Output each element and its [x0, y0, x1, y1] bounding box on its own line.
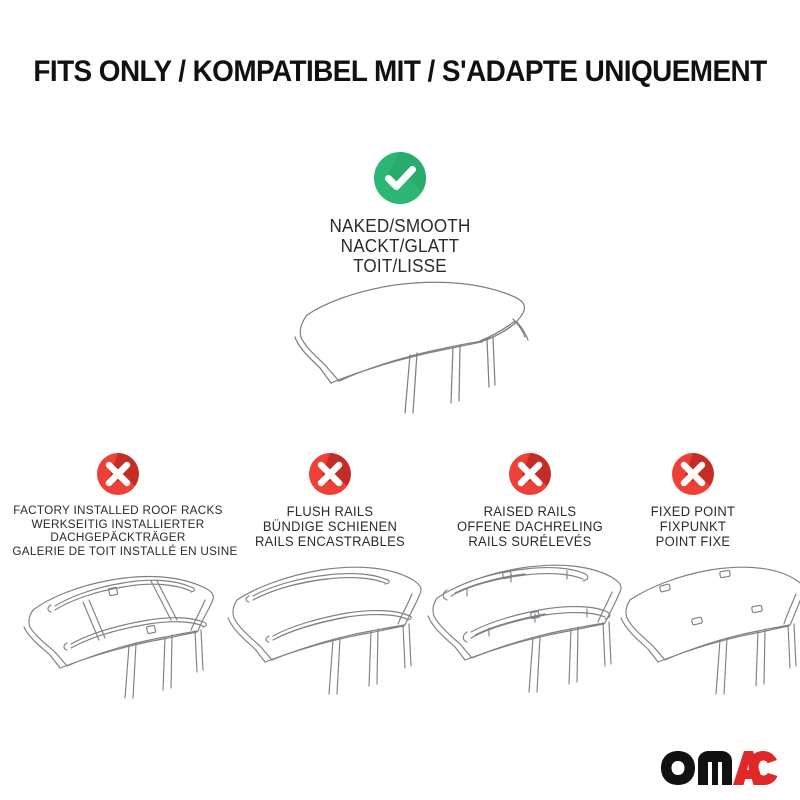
denied-label-flush-rails: FLUSH RAILS BÜNDIGE SCHIENEN RAILS ENCAS…: [232, 504, 428, 549]
x-circle-icon: [671, 452, 715, 496]
denied-label-line-1: FACTORY INSTALLED ROOF RACKS: [12, 504, 223, 518]
allowed-label-line-2: NACKT/GLATT: [258, 236, 543, 256]
denied-label-line-3: RAILS SURÉLEVÉS: [432, 534, 628, 549]
denied-item-factory-installed-roof-racks: FACTORY INSTALLED ROOF RACKS WERKSEITIG …: [8, 452, 228, 558]
denied-label-line-1: RAISED RAILS: [432, 504, 628, 519]
denied-item-fixed-point: FIXED POINT FIXPUNKT POINT FIXE: [612, 452, 774, 549]
denied-label-line-3: RAILS ENCASTRABLES: [232, 534, 428, 549]
check-circle-icon: [372, 150, 428, 206]
x-circle-icon: [508, 452, 552, 496]
naked-smooth-roof-illustration: [265, 275, 555, 435]
factory-roof-rack-illustration: [5, 548, 230, 723]
denied-label-line-2: FIXPUNKT: [615, 519, 771, 534]
denied-label-line-2: WERKSEITIG INSTALLIERTER: [12, 518, 223, 532]
denied-item-flush-rails: FLUSH RAILS BÜNDIGE SCHIENEN RAILS ENCAS…: [228, 452, 432, 549]
denied-label-raised-rails: RAISED RAILS OFFENE DACHRELING RAILS SUR…: [432, 504, 628, 549]
allowed-roof-type-label: NAKED/SMOOTH NACKT/GLATT TOIT/LISSE: [258, 216, 543, 276]
allowed-label-line-3: TOIT/LISSE: [258, 256, 543, 276]
allowed-label-line-1: NAKED/SMOOTH: [258, 216, 543, 236]
fixed-point-illustration: [608, 548, 800, 723]
flush-rails-illustration: [215, 548, 440, 723]
denied-label-fixed-point: FIXED POINT FIXPUNKT POINT FIXE: [615, 504, 771, 549]
denied-label-line-2: BÜNDIGE SCHIENEN: [232, 519, 428, 534]
omac-logo: [660, 748, 778, 788]
denied-item-raised-rails: RAISED RAILS OFFENE DACHRELING RAILS SUR…: [428, 452, 632, 549]
denied-label-line-2: OFFENE DACHRELING: [432, 519, 628, 534]
denied-label-line-3: POINT FIXE: [615, 534, 771, 549]
raised-rails-illustration: [415, 548, 640, 723]
denied-label-line-3: DACHGEPÄCKTRÄGER: [12, 531, 223, 545]
x-circle-icon: [96, 452, 140, 496]
denied-label-line-1: FLUSH RAILS: [232, 504, 428, 519]
denied-label-line-1: FIXED POINT: [615, 504, 771, 519]
page-title: FITS ONLY / KOMPATIBEL MIT / S'ADAPTE UN…: [28, 55, 772, 89]
allowed-roof-type-block: NAKED/SMOOTH NACKT/GLATT TOIT/LISSE: [250, 150, 550, 276]
x-circle-icon: [308, 452, 352, 496]
